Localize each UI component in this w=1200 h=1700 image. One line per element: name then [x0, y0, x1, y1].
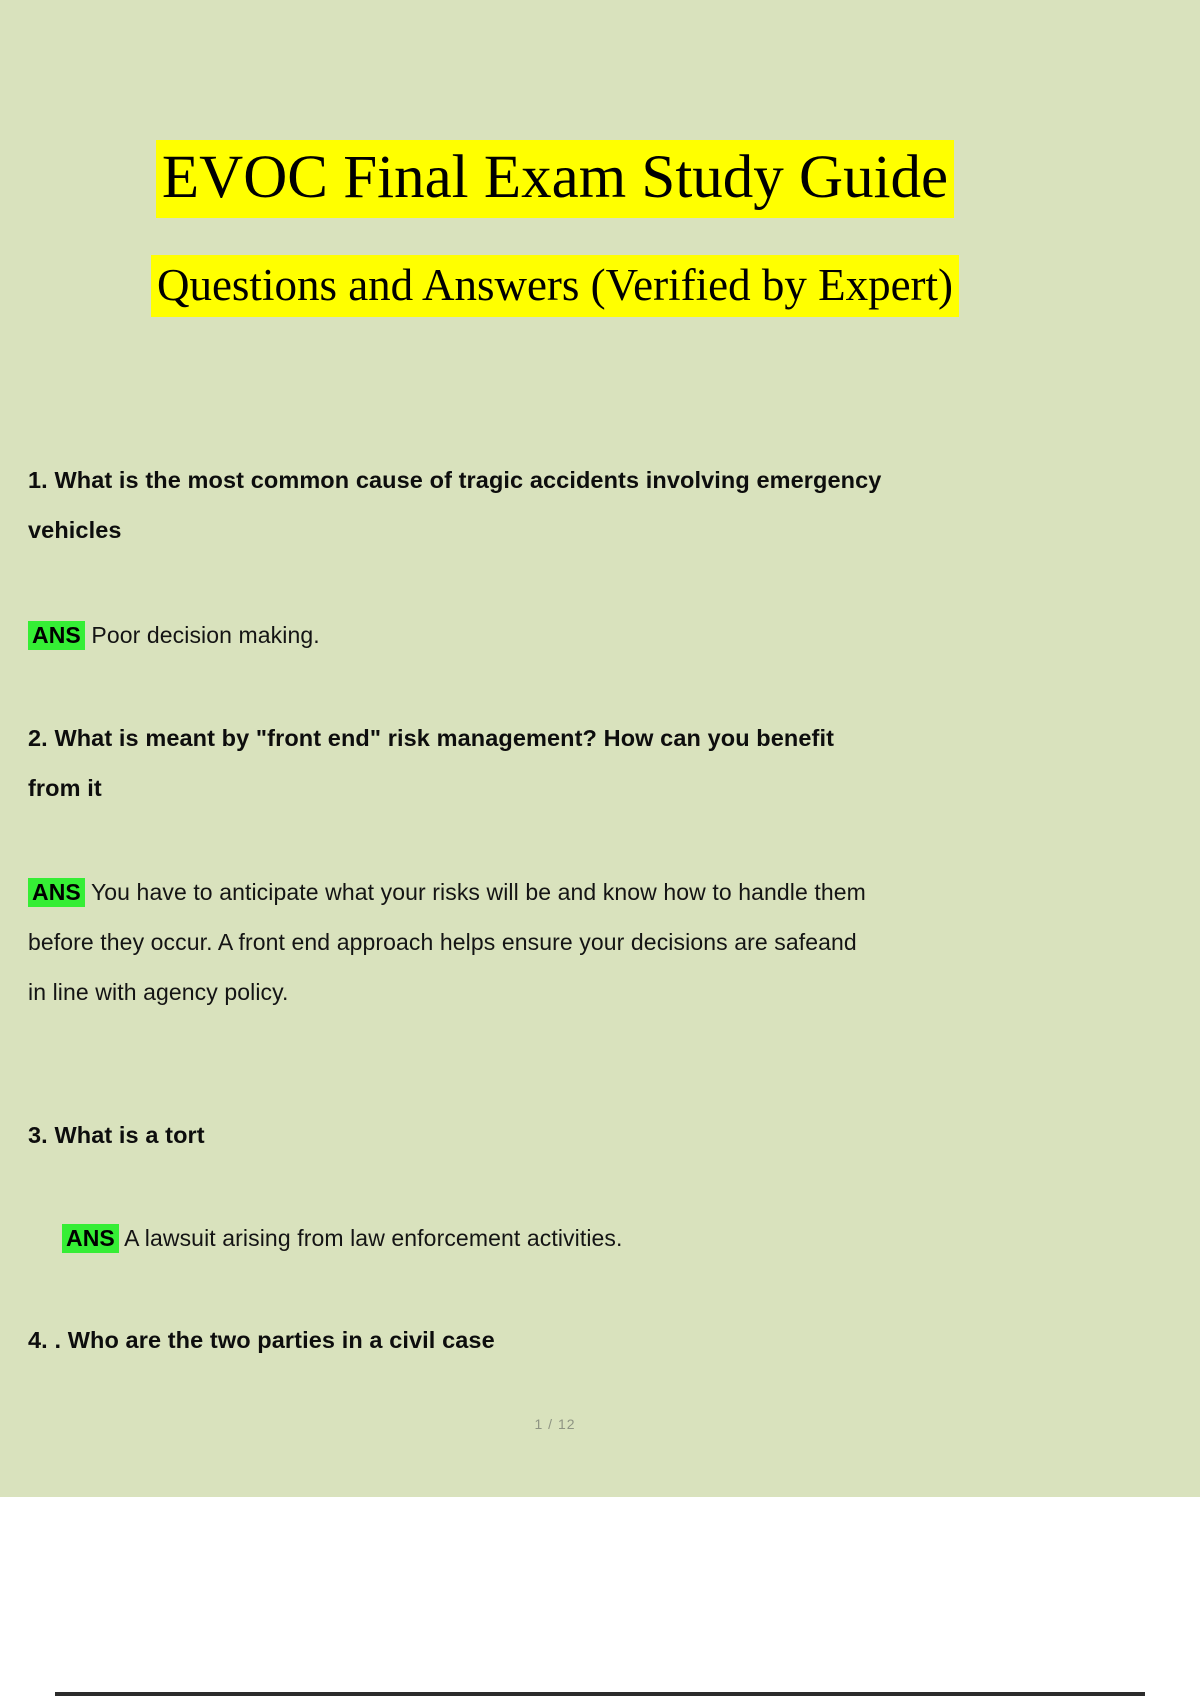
question-2-text: What is meant by "front end" risk manage… — [48, 725, 834, 751]
question-1-line-2: vehicles — [28, 505, 1148, 555]
title-container: EVOC Final Exam Study Guide — [0, 140, 1110, 218]
question-3-line-1: 3. What is a tort — [28, 1110, 1148, 1160]
question-item-2: 2. What is meant by "front end" risk man… — [28, 713, 1148, 813]
answer-2-text-line-1: You have to anticipate what your risks w… — [91, 879, 866, 905]
answer-item-3: ANS A lawsuit arising from law enforceme… — [62, 1213, 1148, 1263]
answer-item-2: ANS You have to anticipate what your ris… — [28, 867, 1148, 1017]
question-4-text: . Who are the two parties in a civil cas… — [54, 1327, 494, 1353]
subtitle-container: Questions and Answers (Verified by Exper… — [0, 255, 1110, 317]
question-4-line-1: 4. . Who are the two parties in a civil … — [28, 1315, 1148, 1365]
question-3-text: What is a tort — [54, 1122, 204, 1148]
question-2-line-2: from it — [28, 763, 1148, 813]
question-1-text: What is the most common cause of tragic … — [54, 467, 881, 493]
answer-2-line-1: ANS You have to anticipate what your ris… — [28, 867, 1148, 917]
next-page-top-rule — [55, 1692, 1145, 1696]
question-3-number: 3. — [28, 1122, 48, 1148]
question-item-1: 1. What is the most common cause of trag… — [28, 455, 1148, 555]
page-content-area: EVOC Final Exam Study Guide Questions an… — [0, 0, 1200, 1497]
answer-item-1: ANS Poor decision making. — [28, 610, 1148, 660]
document-viewer: EVOC Final Exam Study Guide Questions an… — [0, 0, 1200, 1700]
question-1-line-1: 1. What is the most common cause of trag… — [28, 455, 1148, 505]
answer-2-line-2: before they occur. A front end approach … — [28, 917, 1148, 967]
answer-2-ans-badge: ANS — [28, 878, 85, 907]
answer-2-line-3: in line with agency policy. — [28, 967, 1148, 1017]
answer-3-text: A lawsuit arising from law enforcement a… — [124, 1225, 622, 1251]
question-4-number: 4. — [28, 1327, 48, 1353]
question-item-4: 4. . Who are the two parties in a civil … — [28, 1315, 1148, 1365]
page-indicator: 1 / 12 — [0, 1416, 1110, 1432]
page-title: EVOC Final Exam Study Guide — [156, 140, 954, 218]
answer-1-line: ANS Poor decision making. — [28, 610, 1148, 660]
page-separator-gap — [0, 1497, 1200, 1692]
question-1-number: 1. — [28, 467, 48, 493]
question-item-3: 3. What is a tort — [28, 1110, 1148, 1160]
answer-3-line: ANS A lawsuit arising from law enforceme… — [62, 1213, 1148, 1263]
answer-1-ans-badge: ANS — [28, 621, 85, 650]
answer-1-text: Poor decision making. — [91, 622, 319, 648]
page-subtitle: Questions and Answers (Verified by Exper… — [151, 255, 959, 317]
question-2-line-1: 2. What is meant by "front end" risk man… — [28, 713, 1148, 763]
document-page-1: EVOC Final Exam Study Guide Questions an… — [0, 0, 1200, 1497]
question-2-number: 2. — [28, 725, 48, 751]
answer-3-ans-badge: ANS — [62, 1224, 119, 1253]
